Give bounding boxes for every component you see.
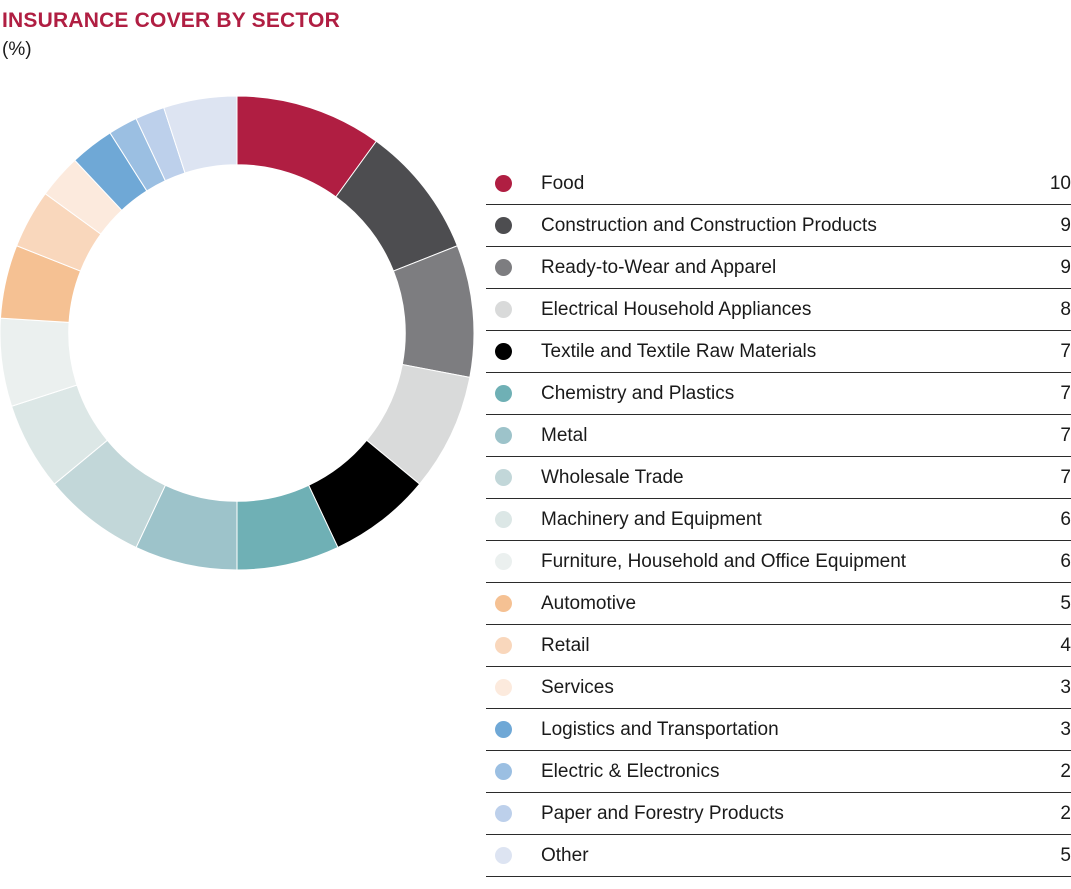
legend-value: 2: [1060, 762, 1071, 781]
legend-label: Wholesale Trade: [541, 468, 1060, 487]
legend-color-swatch-icon: [495, 595, 512, 612]
donut-chart: [0, 85, 480, 585]
legend-value: 5: [1060, 594, 1071, 613]
legend-label: Food: [541, 174, 1050, 193]
legend-row[interactable]: Metal7: [486, 415, 1071, 457]
legend-row[interactable]: Other5: [486, 835, 1071, 877]
legend-row[interactable]: Electrical Household Appliances8: [486, 289, 1071, 331]
legend-color-swatch-icon: [495, 217, 512, 234]
legend-value: 3: [1060, 720, 1071, 739]
page-title: INSURANCE COVER BY SECTOR: [0, 0, 600, 31]
legend-label: Logistics and Transportation: [541, 720, 1060, 739]
legend-label: Construction and Construction Products: [541, 216, 1060, 235]
legend-value: 9: [1060, 216, 1071, 235]
legend-value: 6: [1060, 510, 1071, 529]
legend-row[interactable]: Machinery and Equipment6: [486, 499, 1071, 541]
legend-row[interactable]: Services3: [486, 667, 1071, 709]
legend-color-swatch-icon: [495, 553, 512, 570]
legend-color-swatch-icon: [495, 511, 512, 528]
legend-row[interactable]: Automotive5: [486, 583, 1071, 625]
donut-slice-group: [0, 96, 474, 570]
legend-row[interactable]: Construction and Construction Products9: [486, 205, 1071, 247]
legend-row[interactable]: Textile and Textile Raw Materials7: [486, 331, 1071, 373]
legend-row[interactable]: Ready-to-Wear and Apparel9: [486, 247, 1071, 289]
legend-row[interactable]: Logistics and Transportation3: [486, 709, 1071, 751]
legend-row[interactable]: Electric & Electronics2: [486, 751, 1071, 793]
legend-value: 10: [1050, 174, 1071, 193]
legend-label: Services: [541, 678, 1060, 697]
legend-value: 2: [1060, 804, 1071, 823]
legend-label: Ready-to-Wear and Apparel: [541, 258, 1060, 277]
legend-value: 9: [1060, 258, 1071, 277]
legend-label: Machinery and Equipment: [541, 510, 1060, 529]
legend-label: Electrical Household Appliances: [541, 300, 1060, 319]
legend-color-swatch-icon: [495, 343, 512, 360]
legend-label: Textile and Textile Raw Materials: [541, 342, 1060, 361]
legend: Food10Construction and Construction Prod…: [486, 163, 1071, 877]
legend-value: 6: [1060, 552, 1071, 571]
legend-color-swatch-icon: [495, 301, 512, 318]
legend-label: Metal: [541, 426, 1060, 445]
legend-value: 7: [1060, 342, 1071, 361]
legend-row[interactable]: Wholesale Trade7: [486, 457, 1071, 499]
chart-unit-label: (%): [0, 31, 600, 59]
legend-label: Chemistry and Plastics: [541, 384, 1060, 403]
legend-value: 5: [1060, 846, 1071, 865]
legend-row[interactable]: Retail4: [486, 625, 1071, 667]
legend-label: Paper and Forestry Products: [541, 804, 1060, 823]
legend-row[interactable]: Food10: [486, 163, 1071, 205]
legend-color-swatch-icon: [495, 259, 512, 276]
legend-label: Retail: [541, 636, 1060, 655]
legend-value: 8: [1060, 300, 1071, 319]
legend-row[interactable]: Furniture, Household and Office Equipmen…: [486, 541, 1071, 583]
chart-header: INSURANCE COVER BY SECTOR (%): [0, 0, 600, 59]
legend-color-swatch-icon: [495, 847, 512, 864]
legend-color-swatch-icon: [495, 721, 512, 738]
legend-row[interactable]: Paper and Forestry Products2: [486, 793, 1071, 835]
legend-color-swatch-icon: [495, 637, 512, 654]
legend-color-swatch-icon: [495, 175, 512, 192]
legend-color-swatch-icon: [495, 385, 512, 402]
legend-label: Automotive: [541, 594, 1060, 613]
legend-row[interactable]: Chemistry and Plastics7: [486, 373, 1071, 415]
legend-label: Furniture, Household and Office Equipmen…: [541, 552, 1060, 571]
legend-value: 4: [1060, 636, 1071, 655]
legend-color-swatch-icon: [495, 679, 512, 696]
donut-chart-svg: [0, 85, 480, 585]
legend-label: Electric & Electronics: [541, 762, 1060, 781]
legend-value: 7: [1060, 384, 1071, 403]
legend-color-swatch-icon: [495, 427, 512, 444]
legend-value: 3: [1060, 678, 1071, 697]
legend-value: 7: [1060, 426, 1071, 445]
legend-color-swatch-icon: [495, 469, 512, 486]
legend-label: Other: [541, 846, 1060, 865]
legend-color-swatch-icon: [495, 763, 512, 780]
legend-value: 7: [1060, 468, 1071, 487]
legend-color-swatch-icon: [495, 805, 512, 822]
